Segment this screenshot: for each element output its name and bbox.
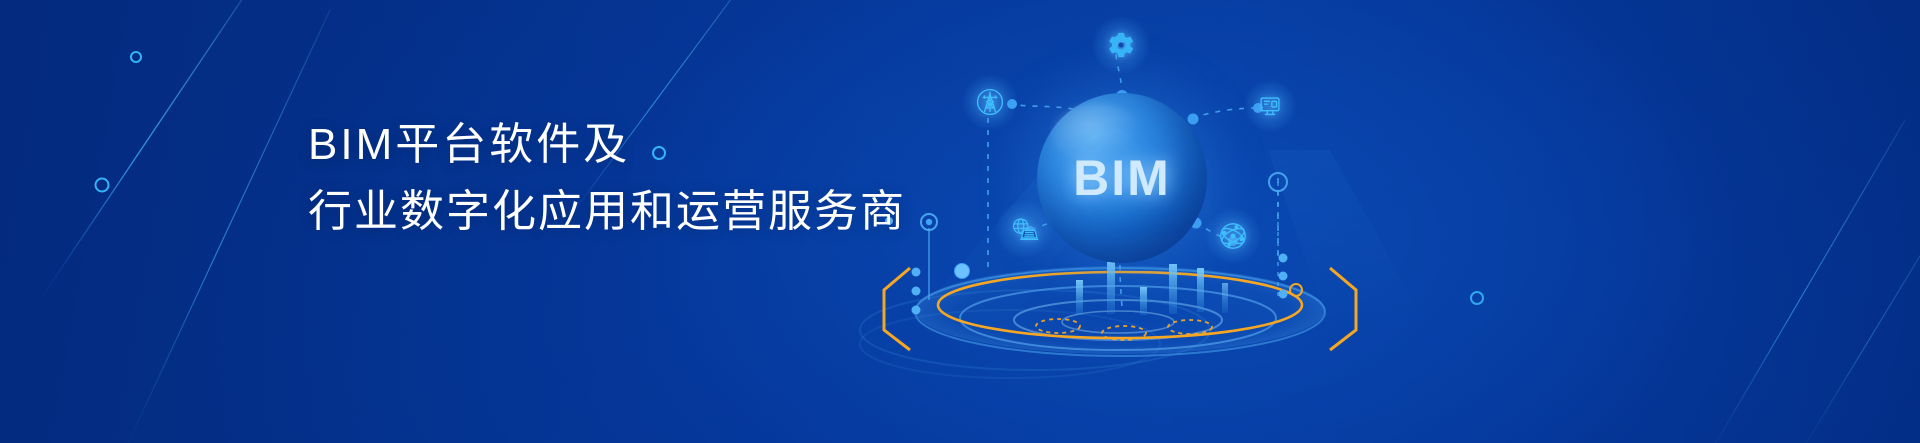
bim-sphere-label: BIM: [1037, 149, 1207, 207]
node-power-tower[interactable]: [962, 74, 1018, 130]
headline-line-1: BIM平台软件及: [308, 112, 906, 179]
node-gear[interactable]: [1092, 16, 1150, 74]
banner-headline: BIM平台软件及 行业数字化应用和运营服务商: [308, 112, 906, 246]
network-nodes-icon: [1216, 219, 1250, 253]
power-tower-icon: [973, 85, 1007, 119]
node-monitor[interactable]: [1244, 80, 1296, 132]
hero-banner: BIM平台软件及 行业数字化应用和运营服务商 BIM: [0, 0, 1920, 443]
node-laptop-globe[interactable]: [996, 200, 1054, 258]
background-decoration: [0, 0, 1920, 443]
gear-icon: [1106, 30, 1136, 60]
monitor-icon: [1255, 91, 1285, 121]
laptop-globe-icon: [1007, 212, 1043, 246]
bim-sphere: BIM: [1037, 93, 1207, 263]
headline-line-2: 行业数字化应用和运营服务商: [308, 179, 906, 246]
node-network[interactable]: [1205, 208, 1261, 264]
